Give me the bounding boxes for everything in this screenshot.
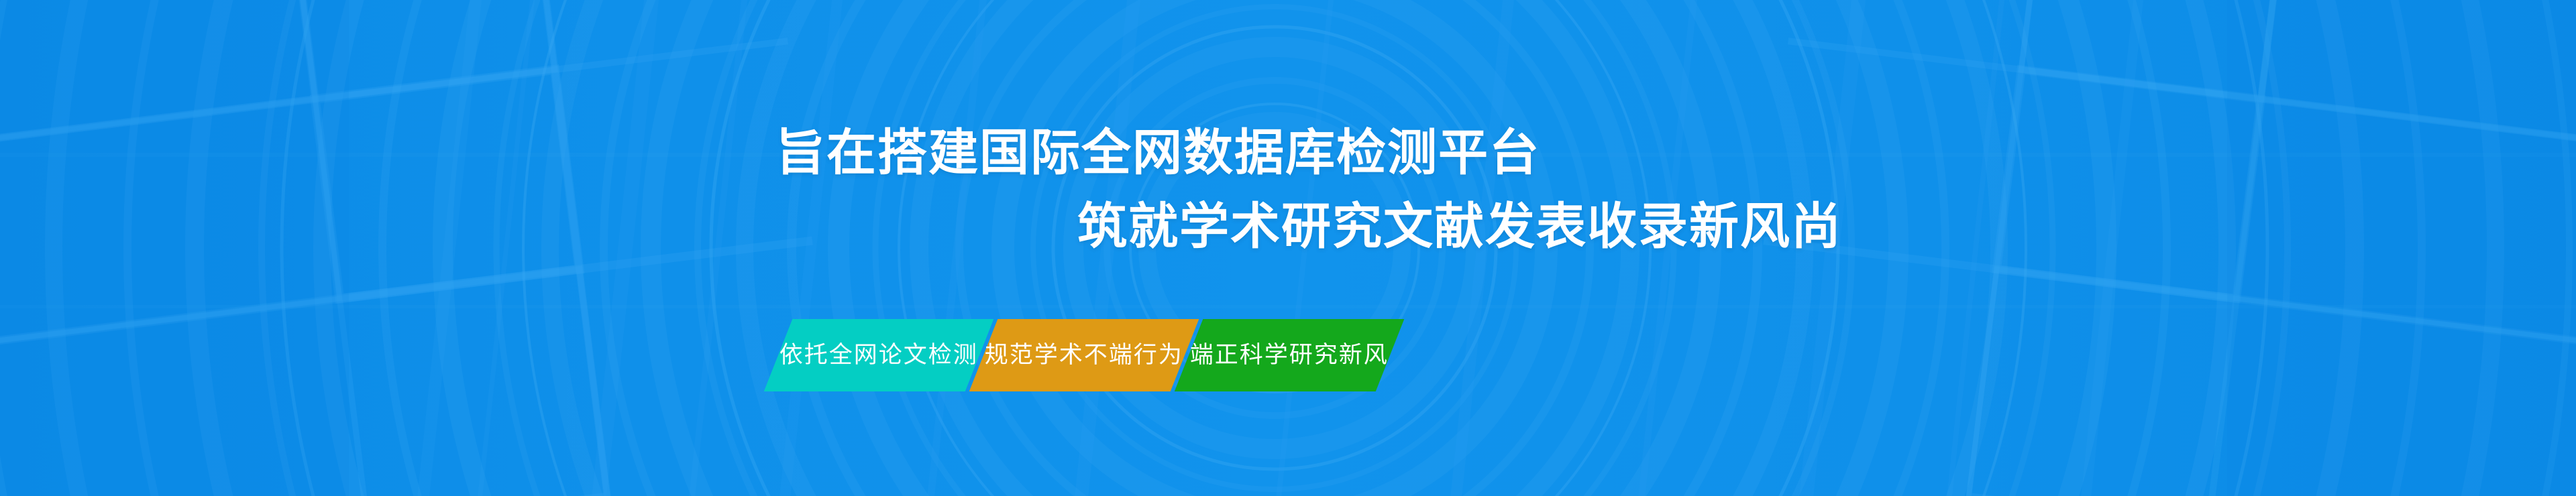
background-decoration xyxy=(0,0,2576,496)
feature-tag-label: 规范学术不端行为 xyxy=(985,344,1183,367)
hero-banner: 旨在搭建国际全网数据库检测平台 筑就学术研究文献发表收录新风尚 依托全网论文检测… xyxy=(0,0,2576,496)
feature-tag-strip: 依托全网论文检测 规范学术不端行为 端正科学研究新风 xyxy=(778,319,1390,391)
feature-tag-label: 依托全网论文检测 xyxy=(780,344,978,367)
feature-tag-label: 端正科学研究新风 xyxy=(1190,344,1389,367)
feature-tag-misconduct[interactable]: 规范学术不端行为 xyxy=(969,319,1199,391)
feature-tag-research-ethos[interactable]: 端正科学研究新风 xyxy=(1175,319,1405,391)
feature-tag-paper-detection[interactable]: 依托全网论文检测 xyxy=(764,319,994,391)
